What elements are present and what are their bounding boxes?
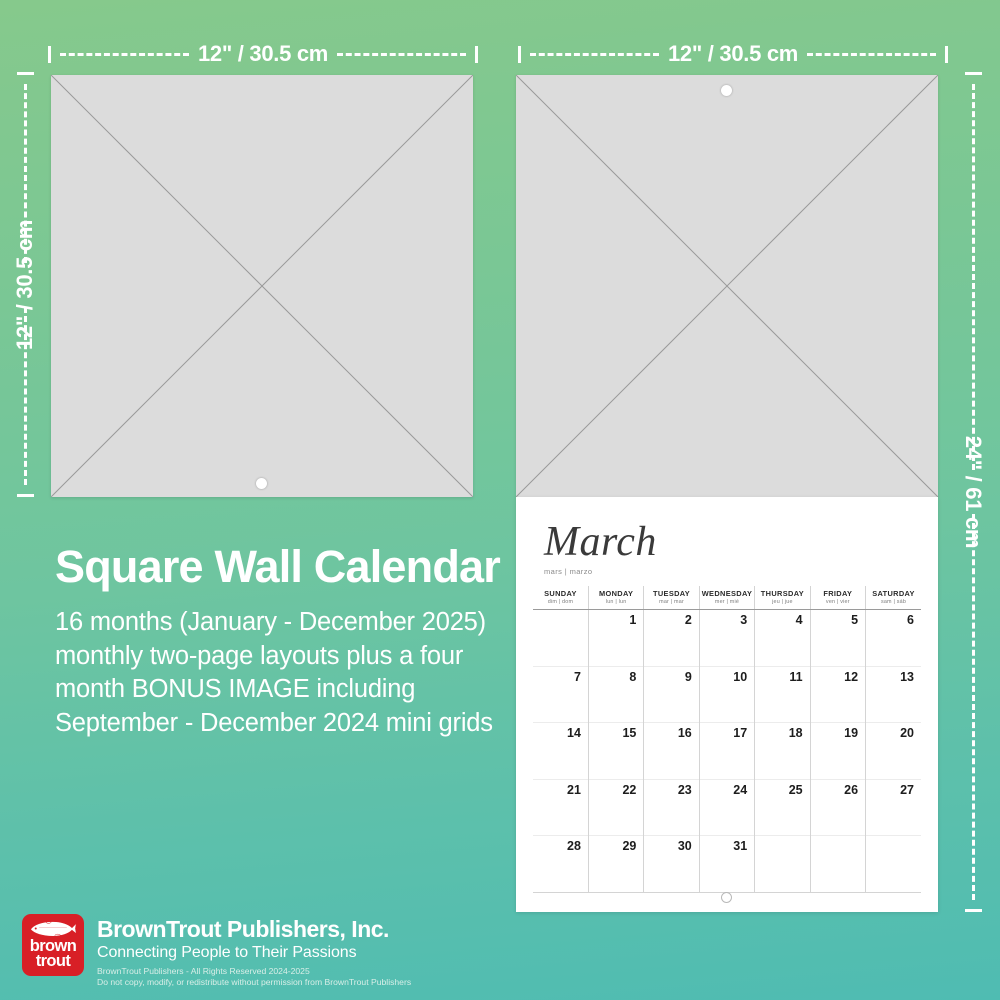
browntrout-logo[interactable]: brown trout [22,914,84,976]
calendar-weekday-header: THURSDAY jeu | jue [755,586,810,610]
trout-fish-icon [28,919,78,938]
calendar-day-cell[interactable]: 29 [588,836,643,893]
hole-punch [721,892,732,903]
calendar-day-cell[interactable]: 5 [810,610,865,667]
calendar-header: March mars | marzo [516,497,938,576]
legal-notice: BrownTrout Publishers - All Rights Reser… [97,966,411,988]
calendar-day-cell[interactable]: 26 [810,779,865,836]
hole-punch [721,85,732,96]
weekday-name: SATURDAY [866,589,921,598]
logo-word-trout: trout [36,954,71,969]
weekday-name: FRIDAY [811,589,865,598]
calendar-week-row: 28 29 30 31 [533,836,921,893]
calendar-day-cell[interactable]: 21 [533,779,588,836]
dimension-cap-right [945,46,948,63]
calendar-day-cell[interactable] [755,836,810,893]
calendar-page: March mars | marzo SUNDAY dim | dom MOND… [516,497,938,912]
calendar-grid-wrapper: SUNDAY dim | dom MONDAY lun | lun TUESDA… [516,576,938,893]
dimension-right-height: 24" / 61 cm [962,72,984,912]
dimension-cap-right [475,46,478,63]
dimension-cap-bottom [965,909,982,912]
weekday-alt: mer | mié [700,599,754,605]
placeholder-cross-icon [516,75,938,497]
calendar-day-cell[interactable]: 16 [644,723,699,780]
calendar-day-cell[interactable]: 2 [644,610,699,667]
calendar-weekday-header: SUNDAY dim | dom [533,586,588,610]
dimension-dashed-line [60,53,189,56]
calendar-day-cell[interactable]: 11 [755,666,810,723]
calendar-day-cell[interactable]: 28 [533,836,588,893]
calendar-day-cell[interactable]: 13 [866,666,921,723]
footer: brown trout BrownTrout Publishers, Inc. … [22,914,411,988]
calendar-day-cell[interactable]: 3 [699,610,754,667]
calendar-day-cell[interactable] [810,836,865,893]
weekday-alt: mar | mar [644,599,698,605]
hole-punch [256,478,267,489]
calendar-day-cell[interactable]: 12 [810,666,865,723]
calendar-week-row: 1 2 3 4 5 6 [533,610,921,667]
dimension-label-left-height: 12" / 30.5 cm [12,219,38,349]
calendar-day-cell[interactable]: 27 [866,779,921,836]
calendar-month-title: March [544,521,938,563]
page-title: Square Wall Calendar [55,541,500,593]
description-line: monthly two-page layouts plus a four [55,640,515,674]
calendar-grid: SUNDAY dim | dom MONDAY lun | lun TUESDA… [533,586,921,893]
description-line: September - December 2024 mini grids [55,707,515,741]
company-name: BrownTrout Publishers, Inc. [97,916,411,942]
calendar-day-cell[interactable]: 18 [755,723,810,780]
weekday-alt: dim | dom [533,599,588,605]
calendar-day-cell[interactable]: 24 [699,779,754,836]
calendar-day-cell[interactable]: 15 [588,723,643,780]
calendar-day-cell[interactable]: 10 [699,666,754,723]
calendar-day-cell[interactable]: 20 [866,723,921,780]
calendar-day-cell[interactable]: 4 [755,610,810,667]
description-line: month BONUS IMAGE including [55,673,515,707]
legal-line: Do not copy, modify, or redistribute wit… [97,977,411,988]
dimension-label-left-width: 12" / 30.5 cm [198,41,328,67]
dimension-dashed-line [337,53,466,56]
calendar-weekday-header: SATURDAY sam | sáb [866,586,921,610]
calendar-body: 1 2 3 4 5 6 7 8 9 10 11 12 13 14 [533,610,921,893]
dimension-dashed-line [972,514,975,900]
dimension-cap-bottom [17,494,34,497]
left-image-placeholder [51,75,473,497]
calendar-day-cell[interactable]: 25 [755,779,810,836]
legal-line: BrownTrout Publishers - All Rights Reser… [97,966,411,977]
calendar-day-cell[interactable]: 9 [644,666,699,723]
dimension-cap-top [965,72,982,75]
calendar-day-cell[interactable]: 1 [588,610,643,667]
calendar-day-cell[interactable] [533,610,588,667]
calendar-weekday-header-row: SUNDAY dim | dom MONDAY lun | lun TUESDA… [533,586,921,610]
weekday-name: MONDAY [589,589,643,598]
dimension-dashed-line [972,84,975,470]
right-image-placeholder [516,75,938,497]
calendar-day-cell[interactable]: 22 [588,779,643,836]
calendar-month-subtitle: mars | marzo [544,567,938,576]
dimension-left-height: 12" / 30.5 cm [14,72,36,497]
description-line: 16 months (January - December 2025) [55,606,515,640]
weekday-alt: lun | lun [589,599,643,605]
weekday-alt: sam | sáb [866,599,921,605]
calendar-day-cell[interactable]: 17 [699,723,754,780]
weekday-alt: ven | vier [811,599,865,605]
weekday-name: WEDNESDAY [700,589,754,598]
placeholder-cross-icon [51,75,473,497]
calendar-day-cell[interactable]: 19 [810,723,865,780]
weekday-name: THURSDAY [755,589,809,598]
calendar-weekday-header: FRIDAY ven | vier [810,586,865,610]
calendar-week-row: 14 15 16 17 18 19 20 [533,723,921,780]
dimension-left-width: 12" / 30.5 cm [48,44,478,64]
dimension-cap-left [518,46,521,63]
footer-text-block: BrownTrout Publishers, Inc. Connecting P… [97,914,411,988]
company-tagline: Connecting People to Their Passions [97,942,411,963]
dimension-label-right-width: 12" / 30.5 cm [668,41,798,67]
calendar-day-cell[interactable]: 23 [644,779,699,836]
calendar-week-row: 21 22 23 24 25 26 27 [533,779,921,836]
dimension-label-right-height: 24" / 61 cm [960,436,986,548]
calendar-day-cell[interactable]: 30 [644,836,699,893]
calendar-day-cell[interactable]: 7 [533,666,588,723]
product-description: 16 months (January - December 2025) mont… [55,606,515,740]
dimension-cap-top [17,72,34,75]
weekday-alt: jeu | jue [755,599,809,605]
calendar-day-cell[interactable]: 8 [588,666,643,723]
dimension-dashed-line [530,53,659,56]
calendar-weekday-header: WEDNESDAY mer | mié [699,586,754,610]
weekday-name: TUESDAY [644,589,698,598]
calendar-day-cell[interactable] [866,836,921,893]
dimension-dashed-line [807,53,936,56]
dimension-cap-left [48,46,51,63]
calendar-day-cell[interactable]: 31 [699,836,754,893]
dimension-right-width: 12" / 30.5 cm [518,44,948,64]
calendar-weekday-header: TUESDAY mar | mar [644,586,699,610]
calendar-day-cell[interactable]: 6 [866,610,921,667]
calendar-day-cell[interactable]: 14 [533,723,588,780]
calendar-week-row: 7 8 9 10 11 12 13 [533,666,921,723]
weekday-name: SUNDAY [533,589,588,598]
calendar-weekday-header: MONDAY lun | lun [588,586,643,610]
